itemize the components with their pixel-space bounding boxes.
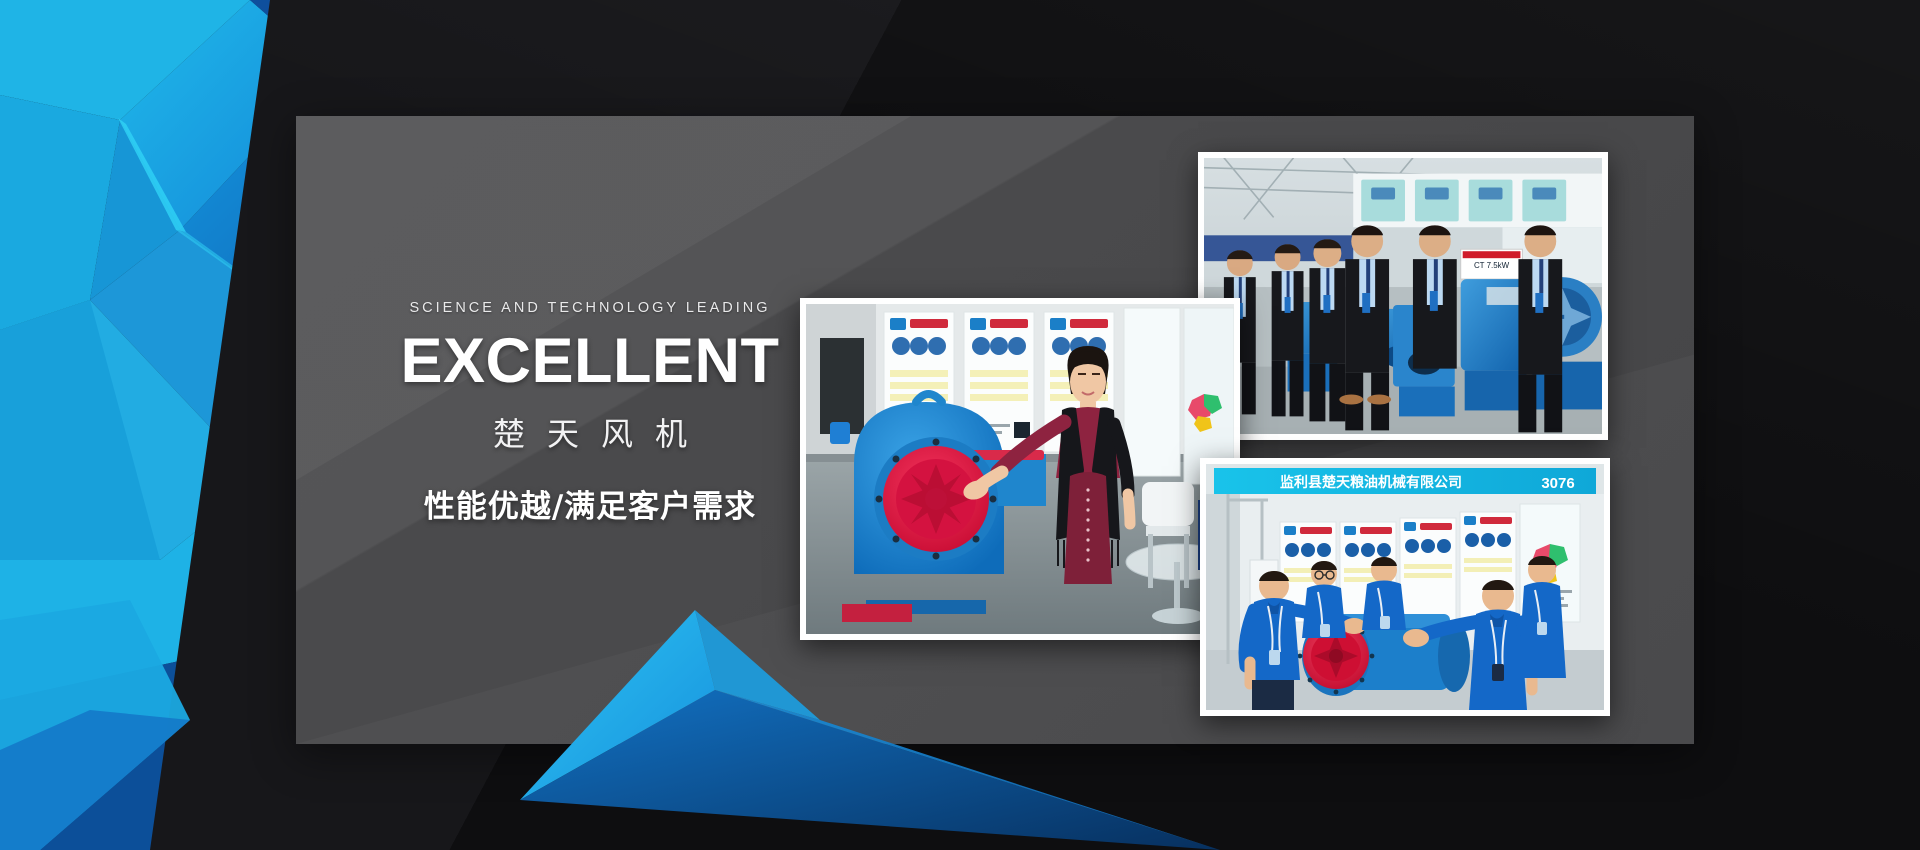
photo-bottom-illustration: 监利县楚天粮油机械有限公司 3076 bbox=[1206, 464, 1604, 710]
left-bottom-polygons bbox=[0, 600, 420, 850]
photo-top-illustration: CT 7.5kW bbox=[1204, 158, 1602, 434]
photo-top-inner: CT 7.5kW bbox=[1204, 158, 1602, 434]
slogan-cn: 性能优越/满足客户需求 bbox=[380, 481, 800, 526]
company-name-cn: 楚天风机 bbox=[380, 409, 800, 455]
svg-text:CT 7.5kW: CT 7.5kW bbox=[1474, 261, 1510, 270]
booth-number-text: 3076 bbox=[1541, 475, 1574, 492]
eyebrow-text: SCIENCE AND TECHNOLOGY LEADING bbox=[380, 300, 800, 316]
photo-exhibition-team-suits: CT 7.5kW bbox=[1198, 152, 1608, 440]
photo-exhibition-presenter bbox=[800, 298, 1240, 640]
headline-text: EXCELLENT bbox=[380, 330, 800, 393]
photo-center-inner bbox=[806, 304, 1234, 634]
photo-bottom-inner: 监利县楚天粮油机械有限公司 3076 bbox=[1206, 464, 1604, 710]
photo-center-illustration bbox=[806, 304, 1234, 634]
booth-banner-text: 监利县楚天粮油机械有限公司 bbox=[1280, 474, 1462, 491]
photo-exhibition-team-blue-shirts: 监利县楚天粮油机械有限公司 3076 bbox=[1200, 458, 1610, 716]
foreground-blue-triangle bbox=[520, 600, 1220, 850]
hero-banner: SCIENCE AND TECHNOLOGY LEADING EXCELLENT… bbox=[0, 0, 1920, 850]
hero-text-block: SCIENCE AND TECHNOLOGY LEADING EXCELLENT… bbox=[380, 300, 800, 526]
